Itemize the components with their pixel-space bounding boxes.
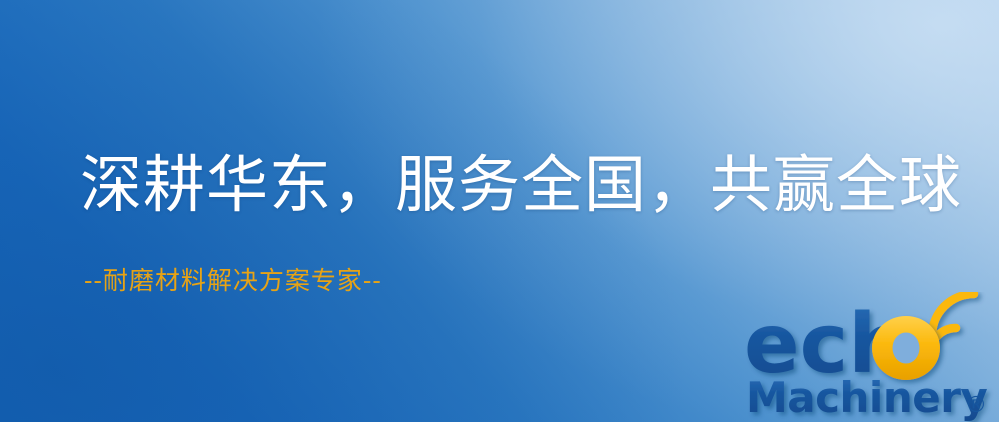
logo-letter-o xyxy=(872,316,940,380)
company-logo[interactable]: ech Machinery ® xyxy=(742,292,999,422)
promo-banner: 深耕华东，服务全国，共赢全球 --耐磨材料解决方案专家-- xyxy=(0,0,999,422)
banner-subtitle: --耐磨材料解决方案专家-- xyxy=(84,266,382,296)
registered-trademark-icon: ® xyxy=(965,393,987,418)
echo-machinery-logo-graphic: ech Machinery ® xyxy=(742,292,999,422)
page-title: 深耕华东，服务全国，共赢全球 xyxy=(80,152,962,218)
logo-tagline: Machinery xyxy=(746,373,987,422)
